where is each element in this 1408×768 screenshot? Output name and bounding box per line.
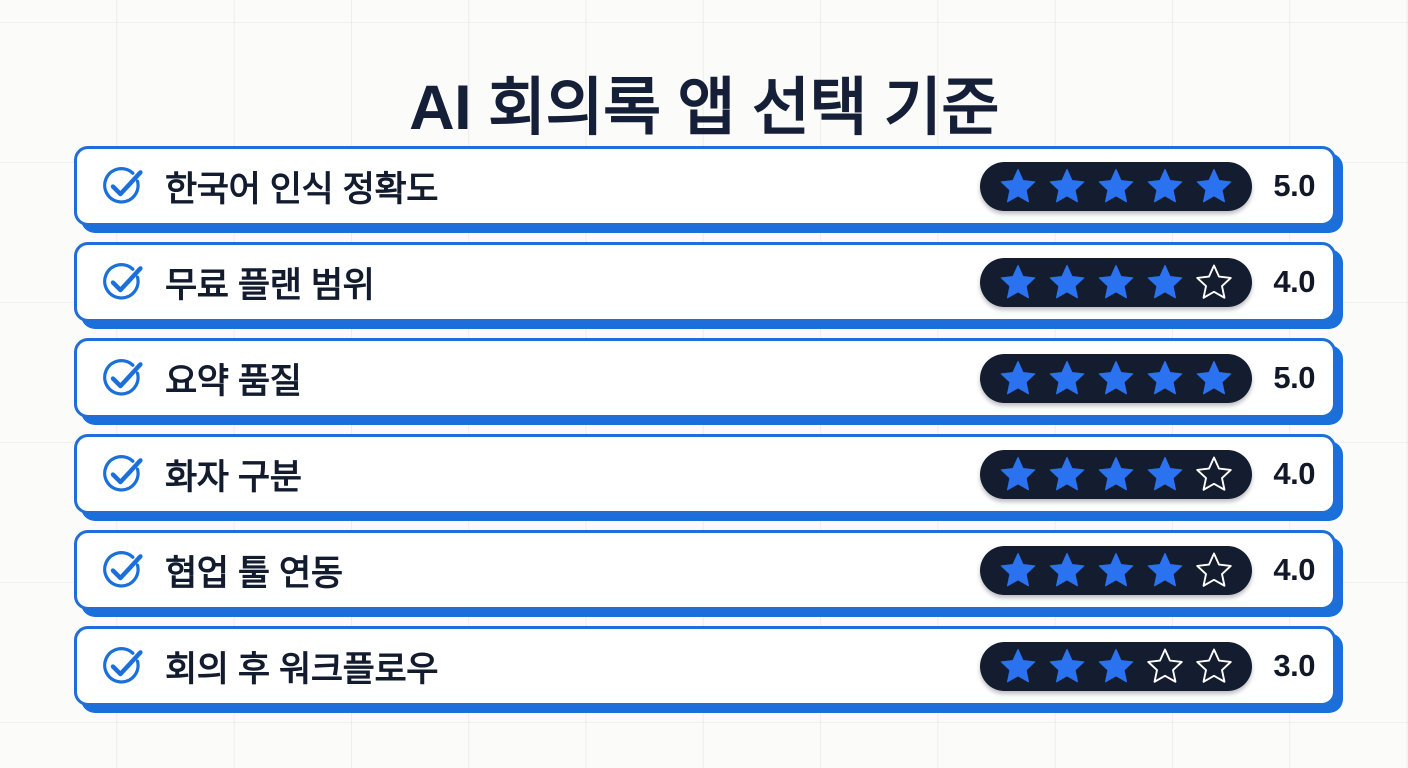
criterion-row[interactable]: 한국어 인식 정확도5.0 [74,146,1336,226]
rating-group: 4.0 [980,258,1315,307]
star-filled-icon [1195,167,1233,205]
star-filled-icon [1146,167,1184,205]
criterion-row[interactable]: 화자 구분4.0 [74,434,1336,514]
check-circle-icon [99,451,145,497]
check-circle-icon [99,643,145,689]
star-filled-icon [1048,263,1086,301]
criterion-label: 한국어 인식 정확도 [165,161,980,212]
star-filled-icon [1048,359,1086,397]
criterion-label: 무료 플랜 범위 [165,257,980,308]
star-rating-pill[interactable] [980,354,1252,403]
criterion-label: 회의 후 워크플로우 [165,641,980,692]
infographic-page: AI 회의록 앱 선택 기준 한국어 인식 정확도5.0무료 플랜 범위4.0요… [0,0,1408,768]
rating-value: 4.0 [1259,456,1315,492]
star-filled-icon [1146,551,1184,589]
star-empty-icon [1195,455,1233,493]
star-filled-icon [999,551,1037,589]
star-filled-icon [999,167,1037,205]
star-filled-icon [1048,647,1086,685]
check-circle-icon [99,163,145,209]
rating-value: 4.0 [1259,264,1315,300]
star-filled-icon [1097,167,1135,205]
star-empty-icon [1195,551,1233,589]
criterion-row[interactable]: 회의 후 워크플로우3.0 [74,626,1336,706]
rating-group: 3.0 [980,642,1315,691]
rating-value: 4.0 [1259,552,1315,588]
criterion-label: 요약 품질 [165,353,980,404]
star-filled-icon [1048,455,1086,493]
star-filled-icon [1097,359,1135,397]
star-filled-icon [1146,263,1184,301]
star-filled-icon [1097,551,1135,589]
star-filled-icon [1048,167,1086,205]
star-filled-icon [1097,263,1135,301]
star-rating-pill[interactable] [980,546,1252,595]
star-empty-icon [1195,263,1233,301]
criterion-row[interactable]: 요약 품질5.0 [74,338,1336,418]
rating-group: 5.0 [980,162,1315,211]
check-circle-icon [99,355,145,401]
star-filled-icon [1146,359,1184,397]
criterion-row[interactable]: 무료 플랜 범위4.0 [74,242,1336,322]
rating-value: 5.0 [1259,168,1315,204]
criterion-label: 화자 구분 [165,449,980,500]
star-filled-icon [1097,647,1135,685]
star-rating-pill[interactable] [980,162,1252,211]
star-rating-pill[interactable] [980,258,1252,307]
star-empty-icon [1195,647,1233,685]
rating-group: 4.0 [980,450,1315,499]
page-title: AI 회의록 앱 선택 기준 [0,75,1408,141]
star-empty-icon [1146,647,1184,685]
star-rating-pill[interactable] [980,642,1252,691]
criterion-label: 협업 툴 연동 [165,545,980,596]
star-rating-pill[interactable] [980,450,1252,499]
star-filled-icon [1195,359,1233,397]
check-circle-icon [99,259,145,305]
rating-value: 5.0 [1259,360,1315,396]
rating-value: 3.0 [1259,648,1315,684]
star-filled-icon [999,359,1037,397]
star-filled-icon [1048,551,1086,589]
star-filled-icon [1097,455,1135,493]
star-filled-icon [999,647,1037,685]
check-circle-icon [99,547,145,593]
star-filled-icon [1146,455,1184,493]
criterion-row[interactable]: 협업 툴 연동4.0 [74,530,1336,610]
star-filled-icon [999,455,1037,493]
criteria-list: 한국어 인식 정확도5.0무료 플랜 범위4.0요약 품질5.0화자 구분4.0… [74,146,1336,706]
rating-group: 4.0 [980,546,1315,595]
rating-group: 5.0 [980,354,1315,403]
star-filled-icon [999,263,1037,301]
